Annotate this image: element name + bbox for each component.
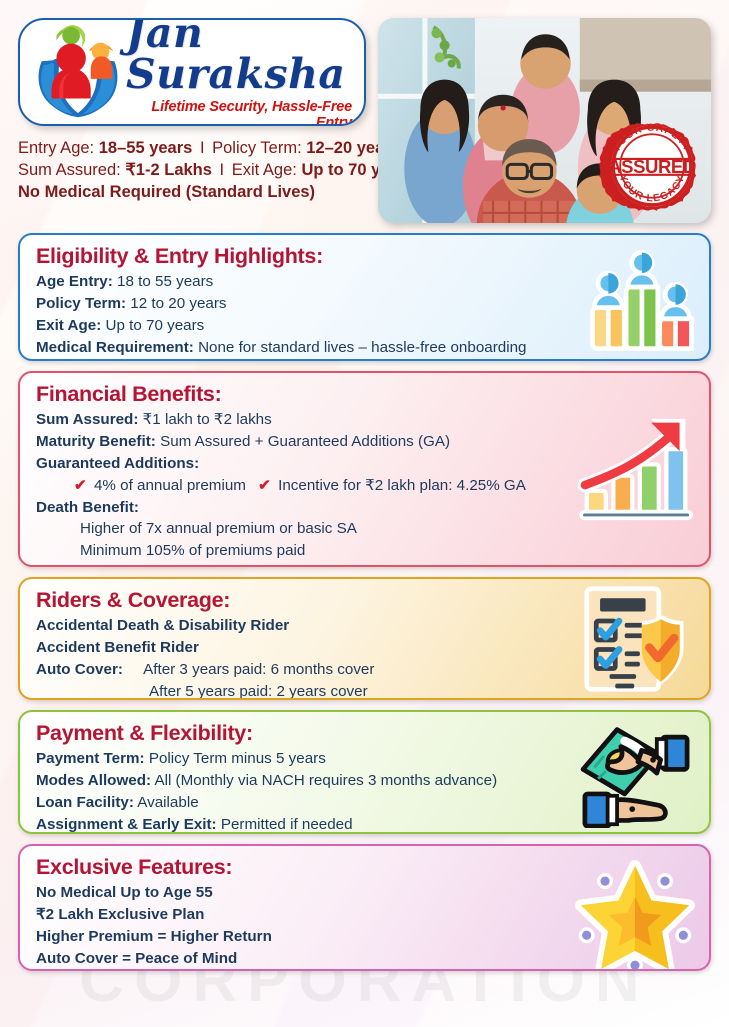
policy-term-label: Policy Term: [212, 139, 302, 157]
header: Jan Suraksha Lifetime Security, Hassle-F… [18, 18, 711, 223]
row-exclusive-item: Auto Cover = Peace of Mind [36, 948, 695, 970]
row-value: After 3 years paid: 6 months cover [127, 661, 374, 678]
card-title-financial: Financial Benefits: [36, 382, 695, 407]
row-label: Exit Age: [36, 317, 101, 334]
header-fact-line-3: No Medical Required (Standard Lives) [18, 181, 366, 203]
row-label: Accidental Death & Disability Rider [36, 617, 289, 634]
row-label: Death Benefit: [36, 499, 139, 516]
row-label: Maturity Benefit: [36, 433, 156, 450]
row-value: Up to 70 years [106, 317, 205, 334]
row-policy-term: Policy Term: 12 to 20 years [36, 293, 695, 315]
stamp-center-text: ASSURED [608, 156, 696, 177]
row-value: Policy Term minus 5 years [149, 750, 326, 767]
row-death-benefit-item: Minimum 105% of premiums paid [36, 540, 695, 562]
row-exclusive-item: Higher Premium = Higher Return [36, 926, 695, 948]
row-value: Permitted if needed [221, 816, 353, 833]
row-medical-requirement: Medical Requirement: None for standard l… [36, 337, 695, 359]
header-fact-line-2: Sum Assured: ₹1-2 Lakhs I Exit Age: Up t… [18, 159, 366, 181]
row-death-benefit-label: Death Benefit: [36, 497, 695, 519]
row-value: All (Monthly via NACH requires 3 months … [154, 772, 497, 789]
family-photo: YOUR SAFETY YOUR LEGACY ASSURED [378, 18, 711, 223]
card-title-riders: Riders & Coverage: [36, 588, 695, 613]
row-age-entry: Age Entry: 18 to 55 years [36, 271, 695, 293]
sum-assured-value: ₹1-2 Lakhs [125, 161, 212, 179]
header-left: Jan Suraksha Lifetime Security, Hassle-F… [18, 18, 366, 223]
row-label: Payment Term: [36, 750, 145, 767]
exit-age-label: Exit Age: [232, 161, 297, 179]
card-eligibility: Eligibility & Entry Highlights: Age Entr… [18, 233, 711, 361]
row-label: Loan Facility: [36, 794, 134, 811]
brand-wordmark: Jan Suraksha Lifetime Security, Hassle-F… [126, 18, 364, 126]
row-label: ₹2 Lakh Exclusive Plan [36, 906, 204, 923]
row-auto-cover-first: Auto Cover: After 3 years paid: 6 months… [36, 659, 695, 681]
row-label: Accident Benefit Rider [36, 639, 199, 656]
row-rider-item: Accident Benefit Rider [36, 637, 695, 659]
row-label: Guaranteed Additions: [36, 455, 199, 472]
row-maturity-benefit: Maturity Benefit: Sum Assured + Guarante… [36, 431, 695, 453]
header-fact-line-1: Entry Age: 18–55 years I Policy Term: 12… [18, 137, 366, 159]
brand-logo-box: Jan Suraksha Lifetime Security, Hassle-F… [18, 18, 366, 126]
entry-age-value: 18–55 years [99, 139, 193, 157]
row-sum-assured: Sum Assured: ₹1 lakh to ₹2 lakhs [36, 409, 695, 431]
infographic-page: HIDI CORPORATION [0, 0, 729, 1027]
row-modes-allowed: Modes Allowed: All (Monthly via NACH req… [36, 770, 695, 792]
card-title-eligibility: Eligibility & Entry Highlights: [36, 244, 695, 269]
row-label: No Medical Up to Age 55 [36, 884, 213, 901]
row-label: Modes Allowed: [36, 772, 151, 789]
card-riders-coverage: Riders & Coverage: Accidental Death & Di… [18, 577, 711, 700]
row-value: Sum Assured + Guaranteed Additions (GA) [160, 433, 450, 450]
header-facts: Entry Age: 18–55 years I Policy Term: 12… [18, 137, 366, 203]
tick-text: Incentive for ₹2 lakh plan: 4.25% GA [278, 477, 526, 494]
brand-tagline: Lifetime Security, Hassle-Free Entry [126, 99, 354, 126]
entry-age-label: Entry Age: [18, 139, 94, 157]
sum-assured-label: Sum Assured: [18, 161, 121, 179]
check-icon: ✔ [250, 477, 274, 494]
row-loan-facility: Loan Facility: Available [36, 792, 695, 814]
card-exclusive-features: Exclusive Features: No Medical Up to Age… [18, 844, 711, 971]
row-exclusive-item: ₹2 Lakh Exclusive Plan [36, 904, 695, 926]
row-rider-item: Accidental Death & Disability Rider [36, 615, 695, 637]
row-label: Sum Assured: [36, 411, 138, 428]
row-value: Available [137, 794, 198, 811]
assured-seal-stamp-icon: YOUR SAFETY YOUR LEGACY ASSURED [599, 113, 705, 219]
check-icon: ✔ [74, 477, 90, 494]
tick-text: 4% of annual premium [94, 477, 246, 494]
fact-separator: I [217, 161, 228, 179]
three-people-in-hands-logo-icon [24, 22, 132, 122]
row-label: Auto Cover: [36, 661, 123, 678]
row-label: Assignment & Early Exit: [36, 816, 217, 833]
card-payment-flexibility: Payment & Flexibility: Payment Term: Pol… [18, 710, 711, 834]
row-death-benefit-item: Higher of 7x annual premium or basic SA [36, 518, 695, 540]
row-label: Policy Term: [36, 295, 126, 312]
row-value: None for standard lives – hassle-free on… [198, 339, 526, 356]
row-assignment-early-exit: Assignment & Early Exit: Permitted if ne… [36, 814, 695, 834]
fact-separator: I [197, 139, 208, 157]
row-exclusive-item: No Medical Up to Age 55 [36, 882, 695, 904]
row-value: 12 to 20 years [130, 295, 226, 312]
row-label: Age Entry: [36, 273, 113, 290]
row-auto-cover-second: After 5 years paid: 2 years cover [36, 681, 695, 700]
row-label: Medical Requirement: [36, 339, 194, 356]
card-financial-benefits: Financial Benefits: Sum Assured: ₹1 lakh… [18, 371, 711, 567]
row-label: Higher Premium = Higher Return [36, 928, 272, 945]
brand-name: Jan Suraksha [126, 18, 354, 95]
row-exit-age: Exit Age: Up to 70 years [36, 315, 695, 337]
row-label: Auto Cover = Peace of Mind [36, 950, 237, 967]
row-guaranteed-additions: Guaranteed Additions: [36, 453, 695, 475]
card-title-exclusive: Exclusive Features: [36, 855, 695, 880]
card-title-payment: Payment & Flexibility: [36, 721, 695, 746]
row-guaranteed-addition-ticks: ✔ 4% of annual premium ✔ Incentive for ₹… [36, 475, 695, 497]
row-value: 18 to 55 years [117, 273, 213, 290]
row-value: ₹1 lakh to ₹2 lakhs [143, 411, 272, 428]
row-payment-term: Payment Term: Policy Term minus 5 years [36, 748, 695, 770]
